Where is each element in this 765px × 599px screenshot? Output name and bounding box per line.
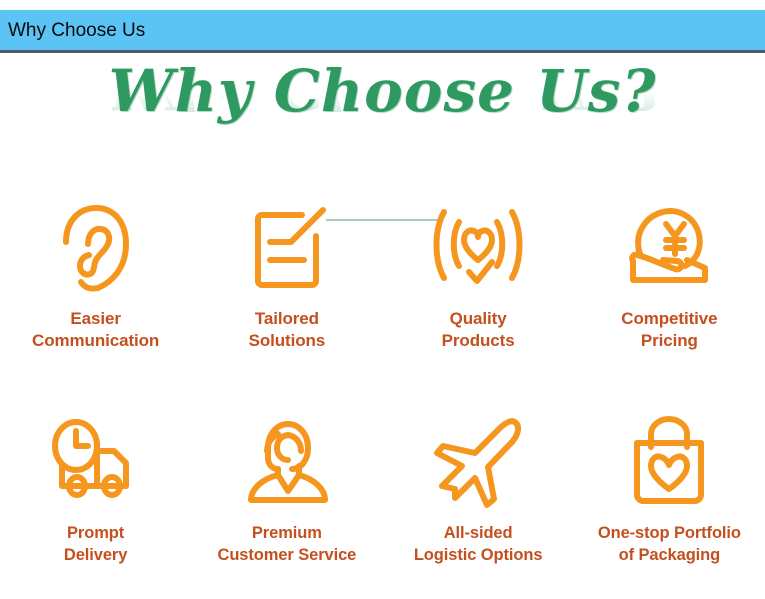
feature-item-quality-products[interactable]: Quality Products <box>383 198 574 353</box>
slide-heading-reflection: Why Choose Us? <box>0 75 765 117</box>
feature-row-bottom: Prompt Delivery Premium Customer Service <box>0 413 765 567</box>
feature-label: All-sided Logistic Options <box>414 523 543 567</box>
feature-item-prompt-delivery[interactable]: Prompt Delivery <box>0 413 191 567</box>
feature-row-top: Easier Communication Tailored Solutions <box>0 198 765 353</box>
feature-item-one-stop-portfolio[interactable]: One-stop Portfolio of Packaging <box>574 413 765 567</box>
feature-label: Easier Communication <box>32 308 159 353</box>
ear-listening-icon <box>46 198 146 298</box>
feature-item-easier-communication[interactable]: Easier Communication <box>0 198 191 353</box>
feature-label: Quality Products <box>442 308 515 353</box>
window-title-bar: Why Choose Us <box>0 10 765 53</box>
headset-agent-icon <box>237 413 337 513</box>
slide-heading: Why Choose Us? Why Choose Us? <box>0 62 765 159</box>
document-pencil-icon <box>237 198 337 298</box>
heart-signal-check-icon <box>428 198 528 298</box>
slide-canvas: Why Choose Us? Why Choose Us? Easier Com… <box>0 56 765 599</box>
shopping-bag-heart-icon <box>619 413 719 513</box>
feature-item-tailored-solutions[interactable]: Tailored Solutions <box>191 198 382 353</box>
feature-item-competitive-pricing[interactable]: Competitive Pricing <box>574 198 765 353</box>
feature-label: Competitive Pricing <box>621 308 717 353</box>
feature-item-all-sided-logistic-options[interactable]: All-sided Logistic Options <box>383 413 574 567</box>
hand-yen-coin-icon <box>619 198 719 298</box>
airplane-icon <box>428 413 528 513</box>
feature-label: Prompt Delivery <box>64 523 127 567</box>
feature-item-premium-customer-service[interactable]: Premium Customer Service <box>191 413 382 567</box>
feature-label: One-stop Portfolio of Packaging <box>598 523 741 567</box>
truck-clock-icon <box>46 413 146 513</box>
feature-label: Tailored Solutions <box>249 308 326 353</box>
window-title-text: Why Choose Us <box>0 21 145 40</box>
feature-label: Premium Customer Service <box>218 523 357 567</box>
